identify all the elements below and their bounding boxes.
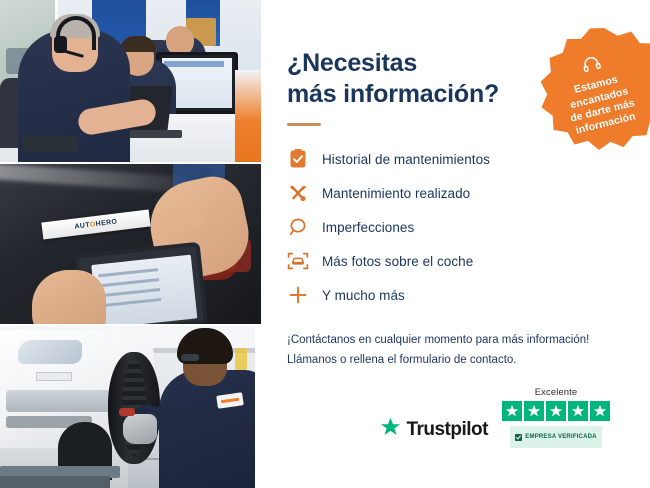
photo-collage: AUTOHERO — [0, 0, 261, 488]
content-panel: ¿Necesitas más información? Historial de… — [261, 0, 650, 488]
mechanic-wheel-inspection-photo — [0, 326, 261, 488]
car-scan-icon — [287, 250, 309, 272]
feature-item-imperfections: Imperfecciones — [287, 210, 624, 244]
rating-star-2 — [524, 401, 544, 421]
verified-check-icon — [515, 428, 522, 446]
star-rating — [502, 401, 610, 421]
feature-label: Imperfecciones — [322, 220, 414, 235]
magnifier-icon — [287, 216, 309, 238]
contact-text: ¡Contáctanos en cualquier momento para m… — [287, 330, 624, 370]
feature-item-more-photos: Más fotos sobre el coche — [287, 244, 624, 278]
contact-line-2: Llámanos o rellena el formulario de cont… — [287, 354, 517, 366]
rating-star-4 — [568, 401, 588, 421]
features-list: Historial de mantenimientos Mantenimient… — [287, 142, 624, 312]
wrench-screwdriver-icon — [287, 182, 309, 204]
vehicle-inspection-ruler-photo: AUTOHERO — [0, 164, 261, 324]
headset-icon — [580, 53, 604, 79]
headline-line-2: más información? — [287, 80, 499, 108]
feature-label: Y mucho más — [322, 288, 405, 303]
call-center-agents-photo — [0, 0, 261, 162]
contact-line-1: ¡Contáctanos en cualquier momento para m… — [287, 334, 589, 346]
headline-line-1: ¿Necesitas — [287, 49, 417, 77]
feature-item-maintenance-done: Mantenimiento realizado — [287, 176, 624, 210]
trustpilot-star-icon — [380, 417, 401, 442]
feature-label: Más fotos sobre el coche — [322, 254, 473, 269]
trustpilot-wordmark: Trustpilot — [406, 419, 488, 441]
clipboard-check-icon — [287, 148, 309, 170]
rating-star-1 — [502, 401, 522, 421]
verified-label: EMPRESA VERIFICADA — [525, 434, 596, 440]
plus-icon — [287, 284, 309, 306]
rating-star-5 — [590, 401, 610, 421]
contact-information-banner: AUTOHERO — [0, 0, 650, 488]
feature-item-much-more: Y mucho más — [287, 278, 624, 312]
trustpilot-rating[interactable]: Trustpilot Excelente — [380, 387, 610, 448]
rating-label: Excelente — [535, 387, 578, 398]
starburst-badge: Estamos encantados de darte más informac… — [540, 28, 650, 156]
verified-company-badge: EMPRESA VERIFICADA — [510, 426, 601, 448]
trustpilot-logo: Trustpilot — [380, 417, 488, 448]
autohero-brand-label: AUTOHERO — [74, 218, 118, 230]
feature-label: Mantenimiento realizado — [322, 186, 470, 201]
feature-label: Historial de mantenimientos — [322, 152, 490, 167]
rating-star-3 — [546, 401, 566, 421]
title-divider — [287, 123, 321, 126]
page-title: ¿Necesitas más información? — [287, 48, 537, 109]
